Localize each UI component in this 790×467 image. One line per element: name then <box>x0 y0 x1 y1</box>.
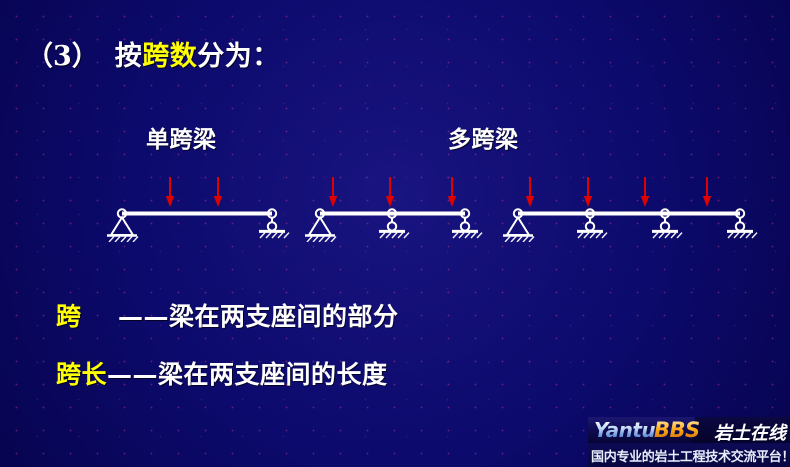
title-number: （3） <box>26 41 99 72</box>
single-span-beam-diagram <box>107 177 289 242</box>
title-highlight: 跨数 <box>142 41 197 72</box>
load-arrow <box>329 177 337 207</box>
load-arrow <box>386 177 394 207</box>
watermark-brand-chinese: 岩土在线 <box>714 419 786 445</box>
beam-diagrams-svg <box>0 176 790 242</box>
definition-dash: —— <box>107 360 158 389</box>
load-arrow <box>448 177 456 207</box>
definition-body: 梁在两支座间的部分 <box>169 302 399 331</box>
definition-body: 梁在两支座间的长度 <box>158 360 388 389</box>
watermark-brand-latin-primary: Yantu <box>594 418 655 442</box>
load-arrow <box>214 177 222 207</box>
load-arrow <box>641 177 649 207</box>
definition-term: 跨 <box>56 297 118 333</box>
title-suffix: 分为： <box>197 41 280 72</box>
definition-line-span: 跨——梁在两支座间的部分 <box>56 297 399 333</box>
label-single-span-beam: 单跨梁 <box>146 120 217 154</box>
watermark-brand-latin-secondary: BBS <box>654 418 700 442</box>
label-multi-span-beam: 多跨梁 <box>448 120 519 154</box>
beam-diagrams-group <box>0 176 790 242</box>
definition-dash: —— <box>118 302 169 331</box>
load-arrow <box>584 177 592 207</box>
watermark-tagline-bar: 国内专业的岩土工程技术交流平台！ <box>588 443 790 467</box>
definition-term: 跨长 <box>56 355 107 391</box>
slide-canvas: （3）按跨数分为： 单跨梁 多跨梁 <box>0 0 790 467</box>
load-arrow <box>166 177 174 207</box>
two-span-beam-diagram <box>305 177 482 242</box>
title-prefix: 按 <box>115 41 143 72</box>
watermark-logo: Yantu BBS 岩土在线 国内专业的岩土工程技术交流平台！ <box>588 417 790 467</box>
page-title: （3）按跨数分为： <box>26 34 280 73</box>
load-arrow <box>526 177 534 207</box>
definition-line-span-length: 跨长——梁在两支座间的长度 <box>56 355 388 391</box>
watermark-brand-bar: Yantu BBS 岩土在线 <box>588 417 790 443</box>
three-span-beam-diagram <box>503 177 757 242</box>
watermark-tagline: 国内专业的岩土工程技术交流平台！ <box>591 446 790 465</box>
load-arrow <box>703 177 711 207</box>
